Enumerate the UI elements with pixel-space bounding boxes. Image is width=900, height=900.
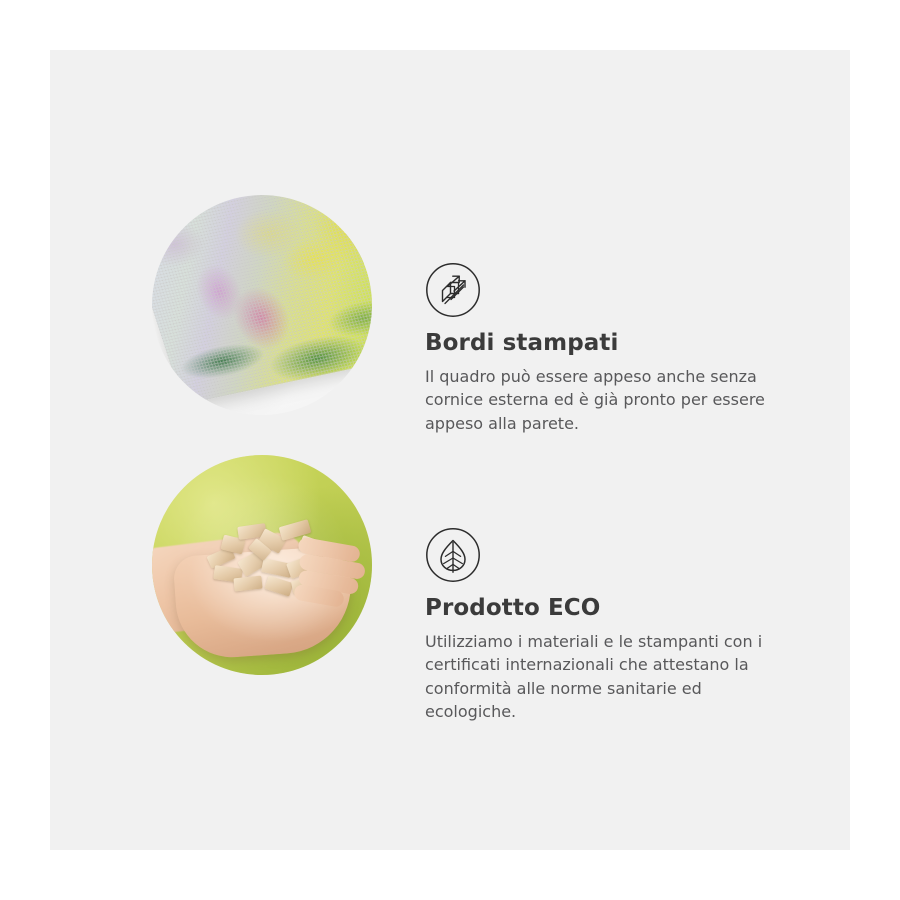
feature-text-block: Bordi stampati Il quadro può essere appe… xyxy=(425,330,805,435)
feature-description: Utilizziamo i materiali e le stampanti c… xyxy=(425,630,793,723)
eco-photo-backdrop xyxy=(152,455,372,675)
wood-chip-pile xyxy=(204,521,336,599)
fingers-shape xyxy=(289,535,372,614)
wood-chips-photo xyxy=(152,455,372,675)
canvas-edge-photo xyxy=(152,195,372,415)
feature-text-block: Prodotto ECO Utilizziamo i materiali e l… xyxy=(425,595,805,723)
feature-prodotto-eco: Prodotto ECO Utilizziamo i materiali e l… xyxy=(50,450,850,700)
product-info-page: Bordi stampati Il quadro può essere appe… xyxy=(0,0,900,900)
canvas-photo-backdrop xyxy=(152,195,372,415)
feature-bordi-stampati: Bordi stampati Il quadro può essere appe… xyxy=(50,190,850,440)
leaf-icon xyxy=(425,527,481,583)
canvas-printed-face xyxy=(152,195,372,405)
feature-description: Il quadro può essere appeso anche senza … xyxy=(425,365,793,435)
cupped-palm-shape xyxy=(173,545,356,661)
feature-title: Bordi stampati xyxy=(425,330,805,357)
forearm-shape xyxy=(152,530,313,639)
feature-title: Prodotto ECO xyxy=(425,595,805,622)
printed-edges-icon xyxy=(425,262,481,318)
content-panel: Bordi stampati Il quadro può essere appe… xyxy=(50,50,850,850)
